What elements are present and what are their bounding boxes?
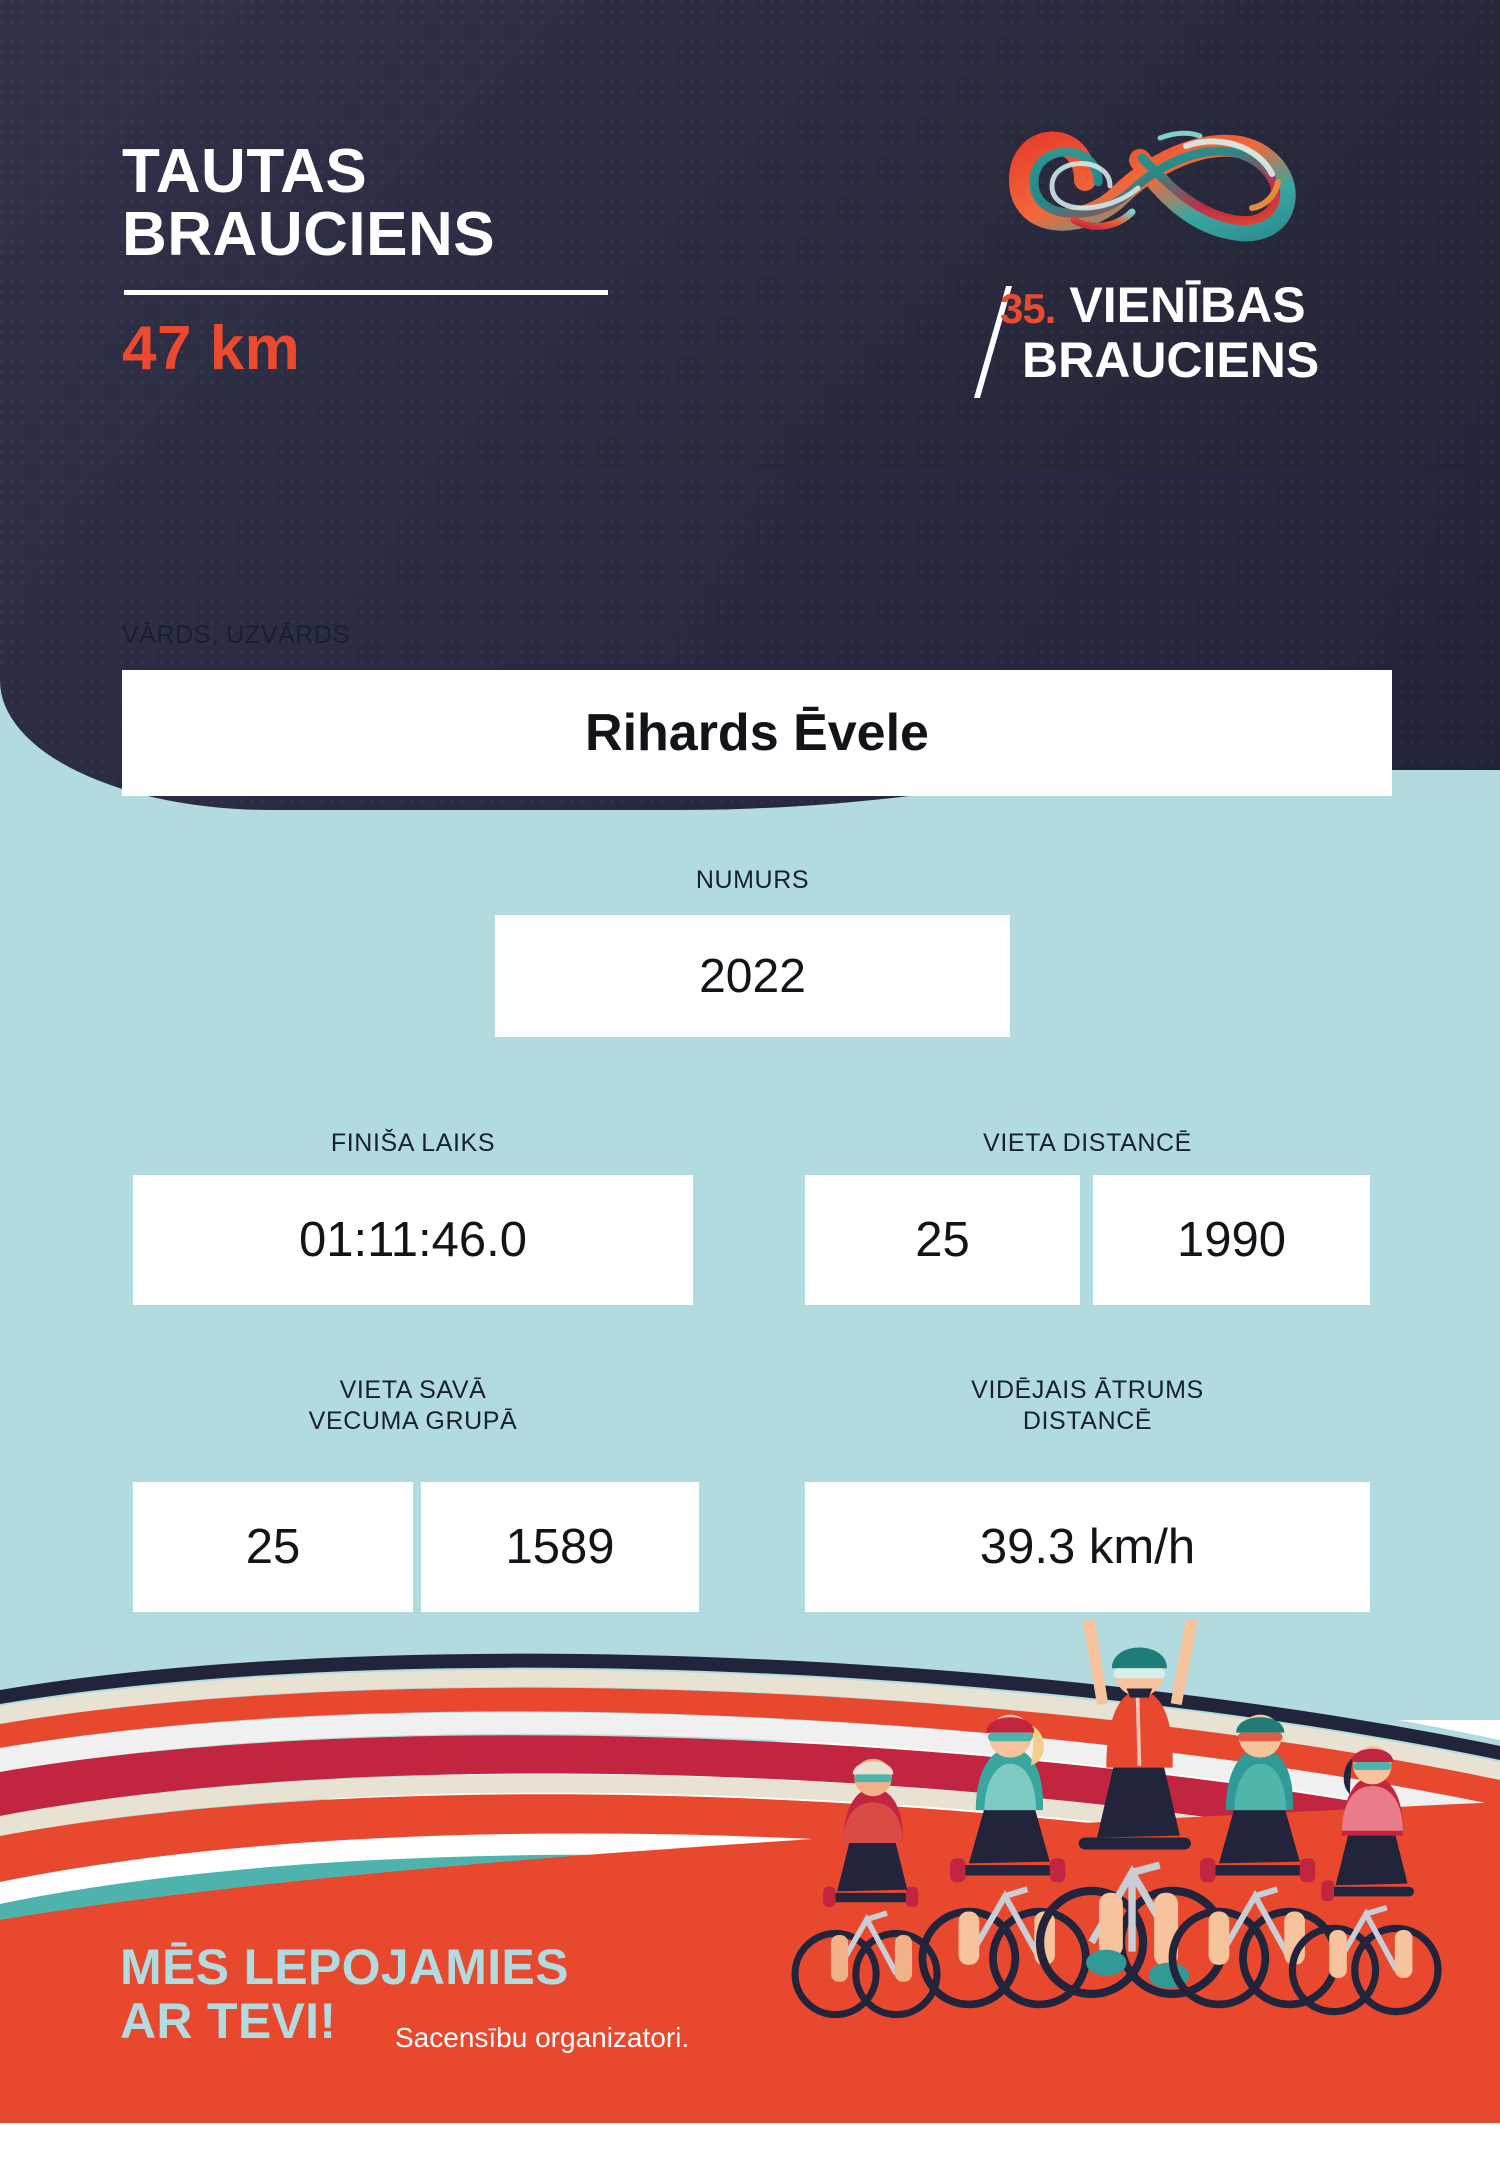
- number-value: 2022: [699, 949, 806, 1004]
- avg-speed-label: VIDĒJAIS ĀTRUMS DISTANCĒ: [805, 1375, 1370, 1438]
- logo-edition-number: 35.: [1000, 288, 1055, 330]
- place-distance-rank: 25: [915, 1212, 970, 1268]
- logo-word-brauciens: BRAUCIENS: [1022, 334, 1420, 387]
- bottom-white-strip: [0, 2123, 1500, 2167]
- cyclist-1: [795, 1759, 937, 2015]
- organizer-signoff: Sacensību organizatori.: [395, 2022, 689, 2054]
- name-value: Rihards Ēvele: [585, 703, 929, 763]
- name-value-box: Rihards Ēvele: [122, 670, 1392, 796]
- place-distance-rank-box: 25: [805, 1175, 1080, 1305]
- title-divider: [124, 290, 608, 295]
- logo-word-vienibas: VIENĪBAS: [1069, 280, 1305, 330]
- avg-speed-value-box: 39.3 km/h: [805, 1482, 1370, 1612]
- cyclist-2: [922, 1715, 1085, 2005]
- infinity-loop-icon: [990, 90, 1320, 270]
- place-distance-label: VIETA DISTANCĒ: [805, 1128, 1370, 1159]
- age-group-rank-box: 25: [133, 1482, 413, 1612]
- cyclist-3: [1172, 1715, 1335, 2005]
- age-group-rank: 25: [246, 1519, 301, 1575]
- event-title-line2: BRAUCIENS: [122, 203, 722, 266]
- age-group-total-box: 1589: [421, 1482, 699, 1612]
- place-distance-total: 1990: [1177, 1212, 1286, 1268]
- logo-wordmark: 35. VIENĪBAS BRAUCIENS: [1000, 280, 1420, 387]
- event-logo: 35. VIENĪBAS BRAUCIENS: [990, 90, 1410, 390]
- age-group-label: VIETA SAVĀ VECUMA GRUPĀ: [133, 1375, 693, 1438]
- number-label: NUMURS: [495, 865, 1010, 896]
- finish-time-value-box: 01:11:46.0: [133, 1175, 693, 1305]
- name-label: VĀRDS, UZVĀRDS: [122, 620, 350, 651]
- finish-time-value: 01:11:46.0: [299, 1212, 527, 1268]
- bottom-illustration: [0, 1620, 1500, 2167]
- event-title-block: TAUTAS BRAUCIENS 47 km: [122, 140, 722, 384]
- tagline-line1: MĒS LEPOJAMIES: [120, 1940, 569, 1994]
- event-title-line1: TAUTAS: [122, 140, 722, 203]
- avg-speed-value: 39.3 km/h: [980, 1519, 1195, 1575]
- race-result-certificate: TAUTAS BRAUCIENS 47 km: [0, 0, 1500, 2167]
- cyclist-winner: [1040, 1620, 1224, 1994]
- place-distance-total-box: 1990: [1093, 1175, 1370, 1305]
- number-value-box: 2022: [495, 915, 1010, 1037]
- age-group-total: 1589: [505, 1519, 614, 1575]
- finish-time-label: FINIŠA LAIKS: [133, 1128, 693, 1159]
- event-distance: 47 km: [122, 313, 722, 384]
